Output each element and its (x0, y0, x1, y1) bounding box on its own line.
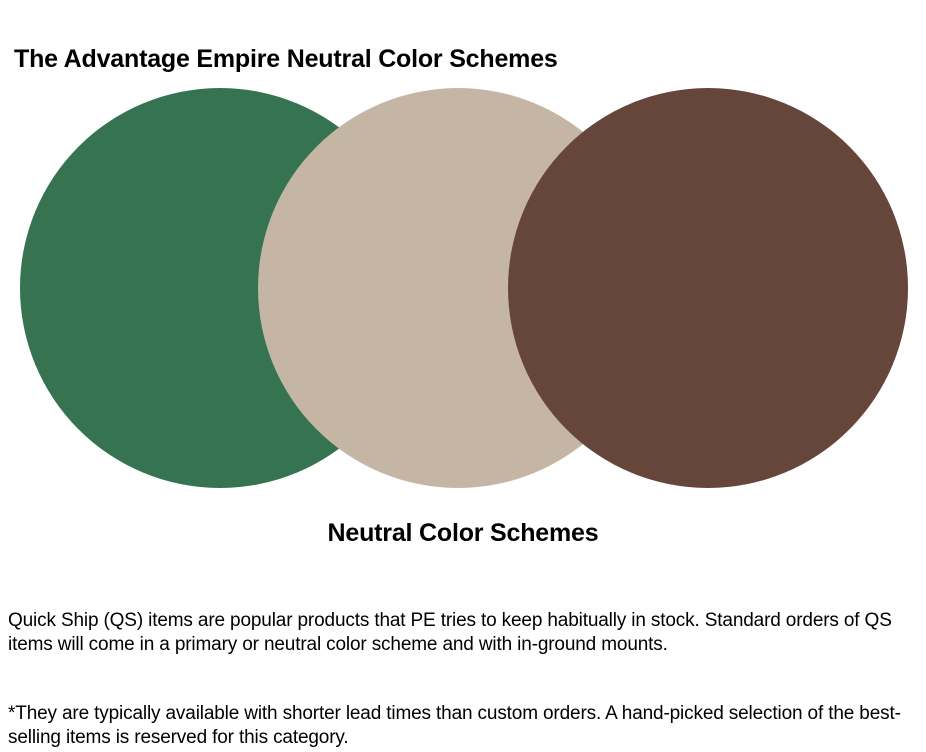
body-paragraph-lead-times: *They are typically available with short… (8, 702, 918, 749)
page-title: The Advantage Empire Neutral Color Schem… (14, 44, 558, 74)
swatch-caption: Neutral Color Schemes (0, 518, 926, 548)
color-swatch-group (0, 78, 926, 508)
color-swatch-brown (508, 88, 908, 488)
page-container: The Advantage Empire Neutral Color Schem… (0, 0, 926, 752)
body-paragraph-quick-ship: Quick Ship (QS) items are popular produc… (8, 609, 918, 656)
